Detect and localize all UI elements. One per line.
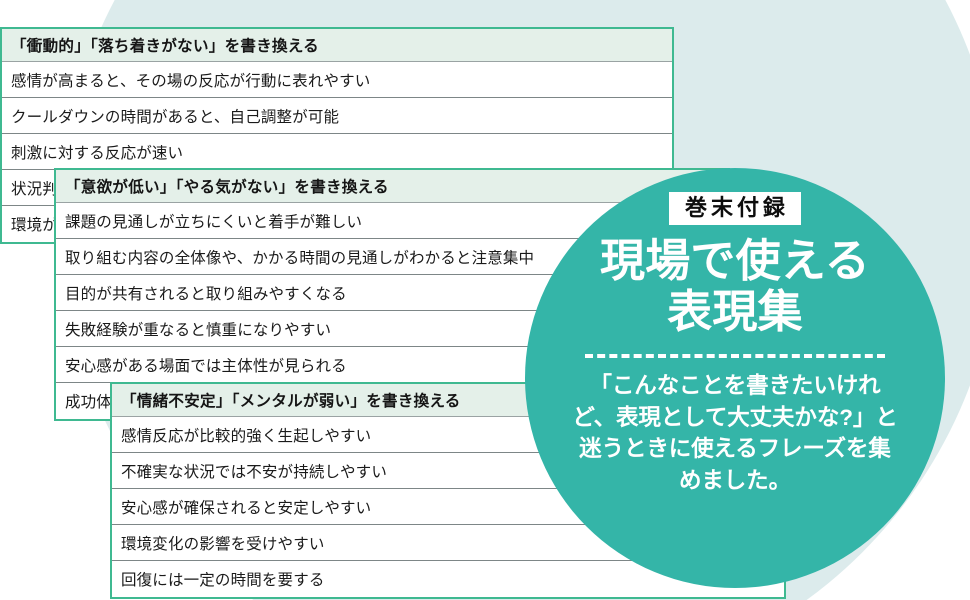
badge-title: 現場で使える 表現集 <box>600 235 870 338</box>
badge-kicker-label: 巻末付録 <box>669 192 801 225</box>
table-header: 「衝動的」「落ち着きがない」を書き換える <box>2 29 672 62</box>
appendix-phrase-collection-poster: 「衝動的」「落ち着きがない」を書き換える 感情が高まると、その場の反応が行動に表… <box>0 0 970 600</box>
badge-title-line-1: 現場で使える <box>600 235 870 286</box>
table-row: 刺激に対する反応が速い <box>2 134 672 170</box>
badge-dashed-divider <box>585 354 885 358</box>
table-row: 感情が高まると、その場の反応が行動に表れやすい <box>2 62 672 98</box>
appendix-badge: 巻末付録 現場で使える 表現集 「こんなことを書きたいけれど、表現として大丈夫か… <box>525 168 945 588</box>
badge-body-text: 「こんなことを書きたいけれど、表現として大丈夫かな?」と迷うときに使えるフレーズ… <box>570 370 900 498</box>
table-row: クールダウンの時間があると、自己調整が可能 <box>2 98 672 134</box>
badge-title-line-2: 表現集 <box>600 286 870 337</box>
